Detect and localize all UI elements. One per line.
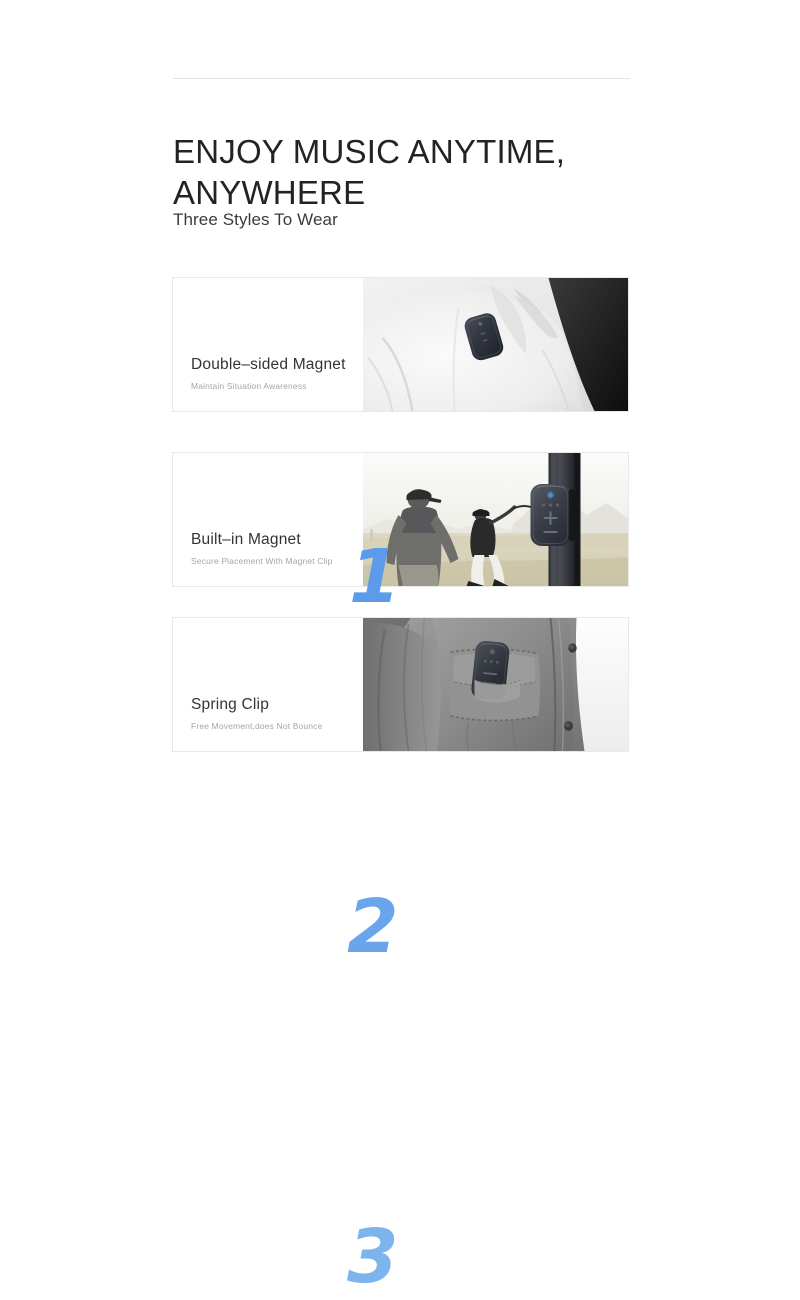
- page-title: ENJOY MUSIC ANYTIME, ANYWHERE: [173, 131, 643, 213]
- feature-card-2[interactable]: Built–in Magnet Secure Placement With Ma…: [172, 452, 629, 587]
- feature-card-1-text: Double–sided Magnet Maintain Situation A…: [173, 278, 363, 411]
- feature-card-1-inner: Double–sided Magnet Maintain Situation A…: [173, 278, 628, 411]
- feature-card-3-numeral: 3: [347, 1220, 397, 1294]
- feature-card-2-inner: Built–in Magnet Secure Placement With Ma…: [173, 453, 628, 586]
- feature-card-1-subtitle: Maintain Situation Awareness: [191, 381, 307, 392]
- feature-card-3[interactable]: Spring Clip Free Movement,does Not Bounc…: [172, 617, 629, 752]
- feature-card-3-text: Spring Clip Free Movement,does Not Bounc…: [173, 618, 363, 751]
- feature-card-2-subtitle: Secure Placement With Magnet Clip: [191, 556, 332, 567]
- product-feature-page: ENJOY MUSIC ANYTIME, ANYWHERE Three Styl…: [0, 0, 800, 800]
- feature-card-1-title: Double–sided Magnet: [191, 356, 346, 374]
- photo-denim-pocket-clip: [363, 618, 628, 751]
- feature-card-3-title: Spring Clip: [191, 696, 269, 714]
- page-subtitle: Three Styles To Wear: [173, 209, 338, 231]
- feature-card-3-subtitle: Free Movement,does Not Bounce: [191, 721, 322, 732]
- feature-card-3-inner: Spring Clip Free Movement,does Not Bounc…: [173, 618, 628, 751]
- feature-card-1[interactable]: Double–sided Magnet Maintain Situation A…: [172, 277, 629, 412]
- feature-card-2-text: Built–in Magnet Secure Placement With Ma…: [173, 453, 363, 586]
- feature-card-2-title: Built–in Magnet: [191, 531, 301, 549]
- feature-card-1-numeral: 1: [349, 540, 399, 614]
- header-divider: [173, 78, 630, 79]
- feature-card-2-numeral: 2: [347, 890, 397, 964]
- photo-golfers-pole-magnet: [363, 453, 628, 586]
- photo-shirt-chest-magnet: [363, 278, 628, 411]
